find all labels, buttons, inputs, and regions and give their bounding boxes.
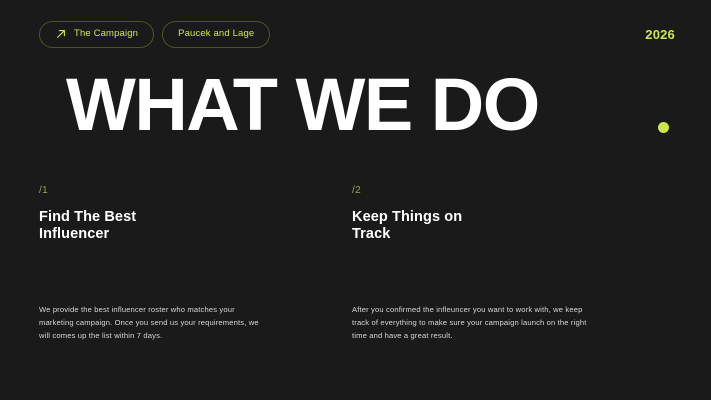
content-column-1: /1 Find The Best Influencer We provide t… [39,186,352,370]
pill-group: The Campaign Paucek and Lage [39,21,270,48]
pill-paucek-and-lage[interactable]: Paucek and Lage [162,21,270,48]
topbar: The Campaign Paucek and Lage 2026 [39,20,675,48]
hero-section: WHAT WE DO [66,68,681,142]
slide-root: The Campaign Paucek and Lage 2026 WHAT W… [0,0,711,400]
content-column-2: /2 Keep Things on Track After you confir… [352,186,665,370]
column-heading: Keep Things on Track [352,209,665,243]
arrow-up-right-icon [55,28,67,40]
column-heading: Find The Best Influencer [39,209,352,243]
page-title: WHAT WE DO [66,68,681,142]
accent-dot-icon [658,122,669,133]
pill-label: The Campaign [74,29,138,39]
year-label: 2026 [645,28,675,41]
column-index: /2 [352,186,665,196]
column-body-text: We provide the best influencer roster wh… [39,303,267,342]
pill-the-campaign[interactable]: The Campaign [39,21,154,48]
column-body-text: After you confirmed the infleuncer you w… [352,303,592,342]
content-columns: /1 Find The Best Influencer We provide t… [39,186,672,370]
column-index: /1 [39,186,352,196]
pill-label: Paucek and Lage [178,29,254,39]
